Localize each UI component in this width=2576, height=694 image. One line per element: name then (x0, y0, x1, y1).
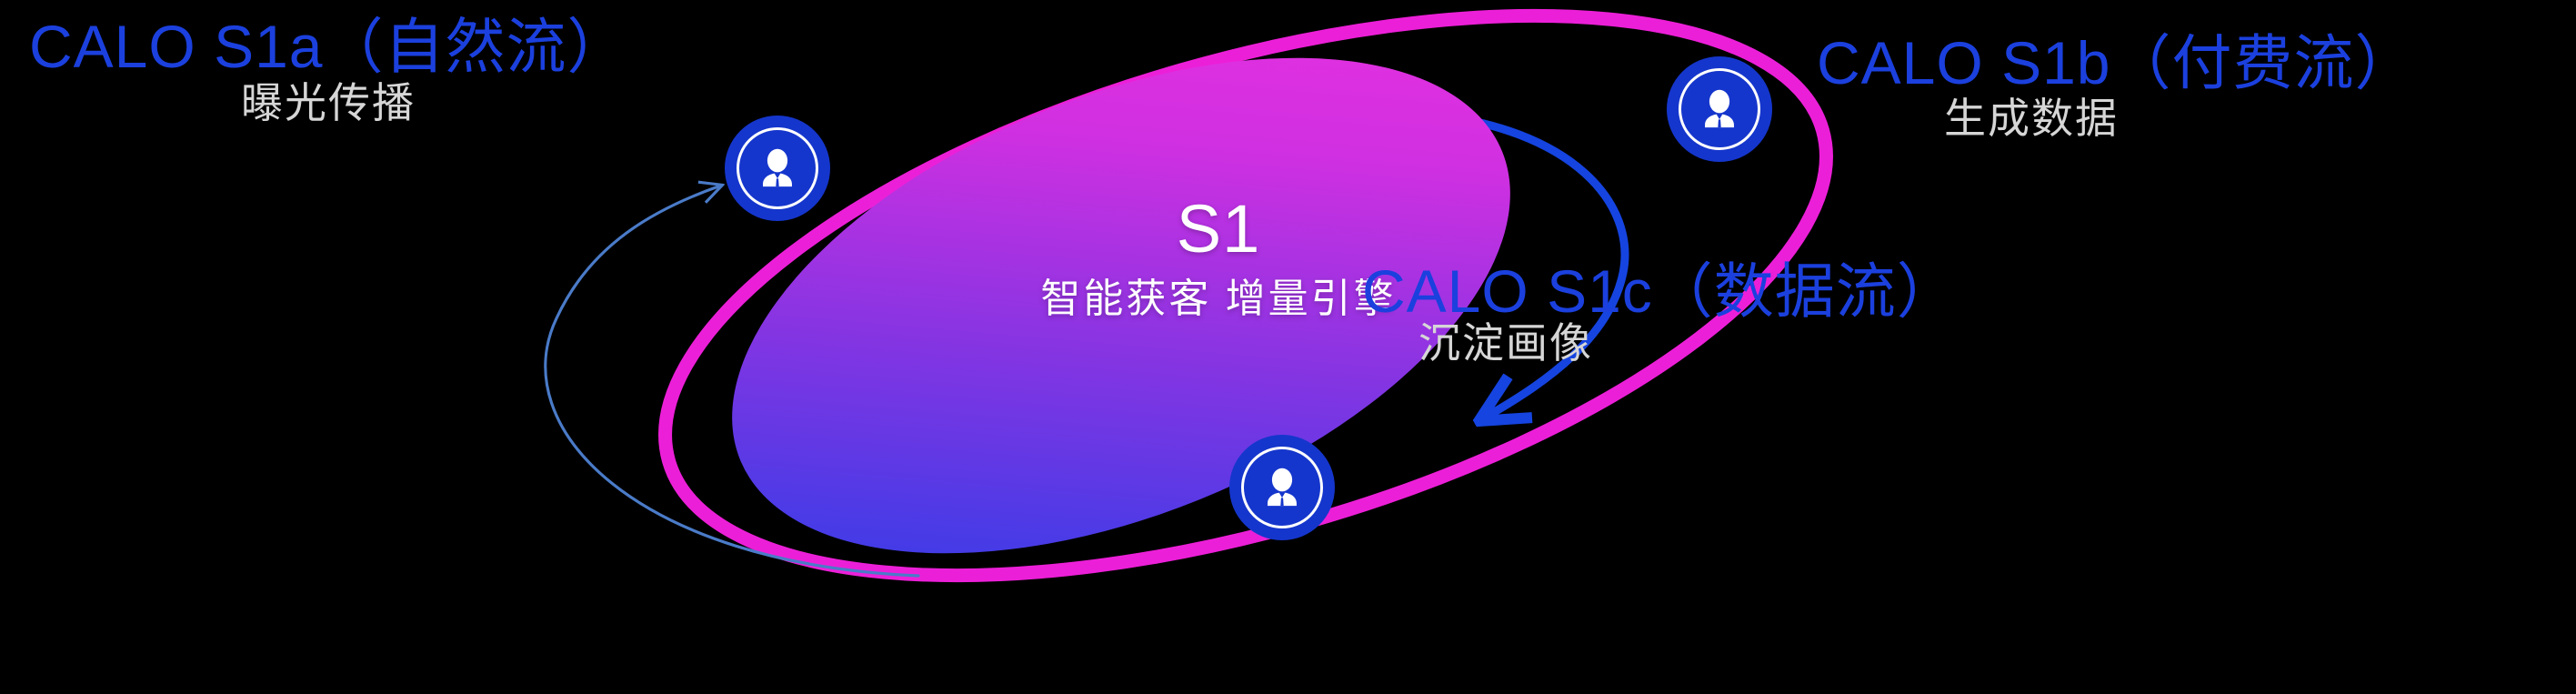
node-s1a-title: CALO S1a（自然流） (29, 16, 628, 76)
node-s1b-title: CALO S1b（付费流） (1817, 33, 2416, 93)
node-s1c-title: CALO S1c（数据流） (1362, 261, 1958, 321)
person-icon (1256, 461, 1308, 514)
node-s1a-subtitle: 曝光传播 (241, 82, 416, 124)
node-s1a[interactable] (725, 116, 830, 221)
node-s1c-subtitle: 沉淀画像 (1418, 322, 1593, 364)
node-s1c[interactable] (1229, 435, 1335, 540)
node-s1b-subtitle: 生成数据 (1944, 97, 2119, 139)
node-s1b[interactable] (1667, 56, 1772, 162)
person-icon (751, 142, 804, 195)
diagram-canvas: S1 智能获客 增量引擎 CALO S1a（自然流） (0, 0, 2576, 694)
person-icon (1693, 83, 1746, 136)
